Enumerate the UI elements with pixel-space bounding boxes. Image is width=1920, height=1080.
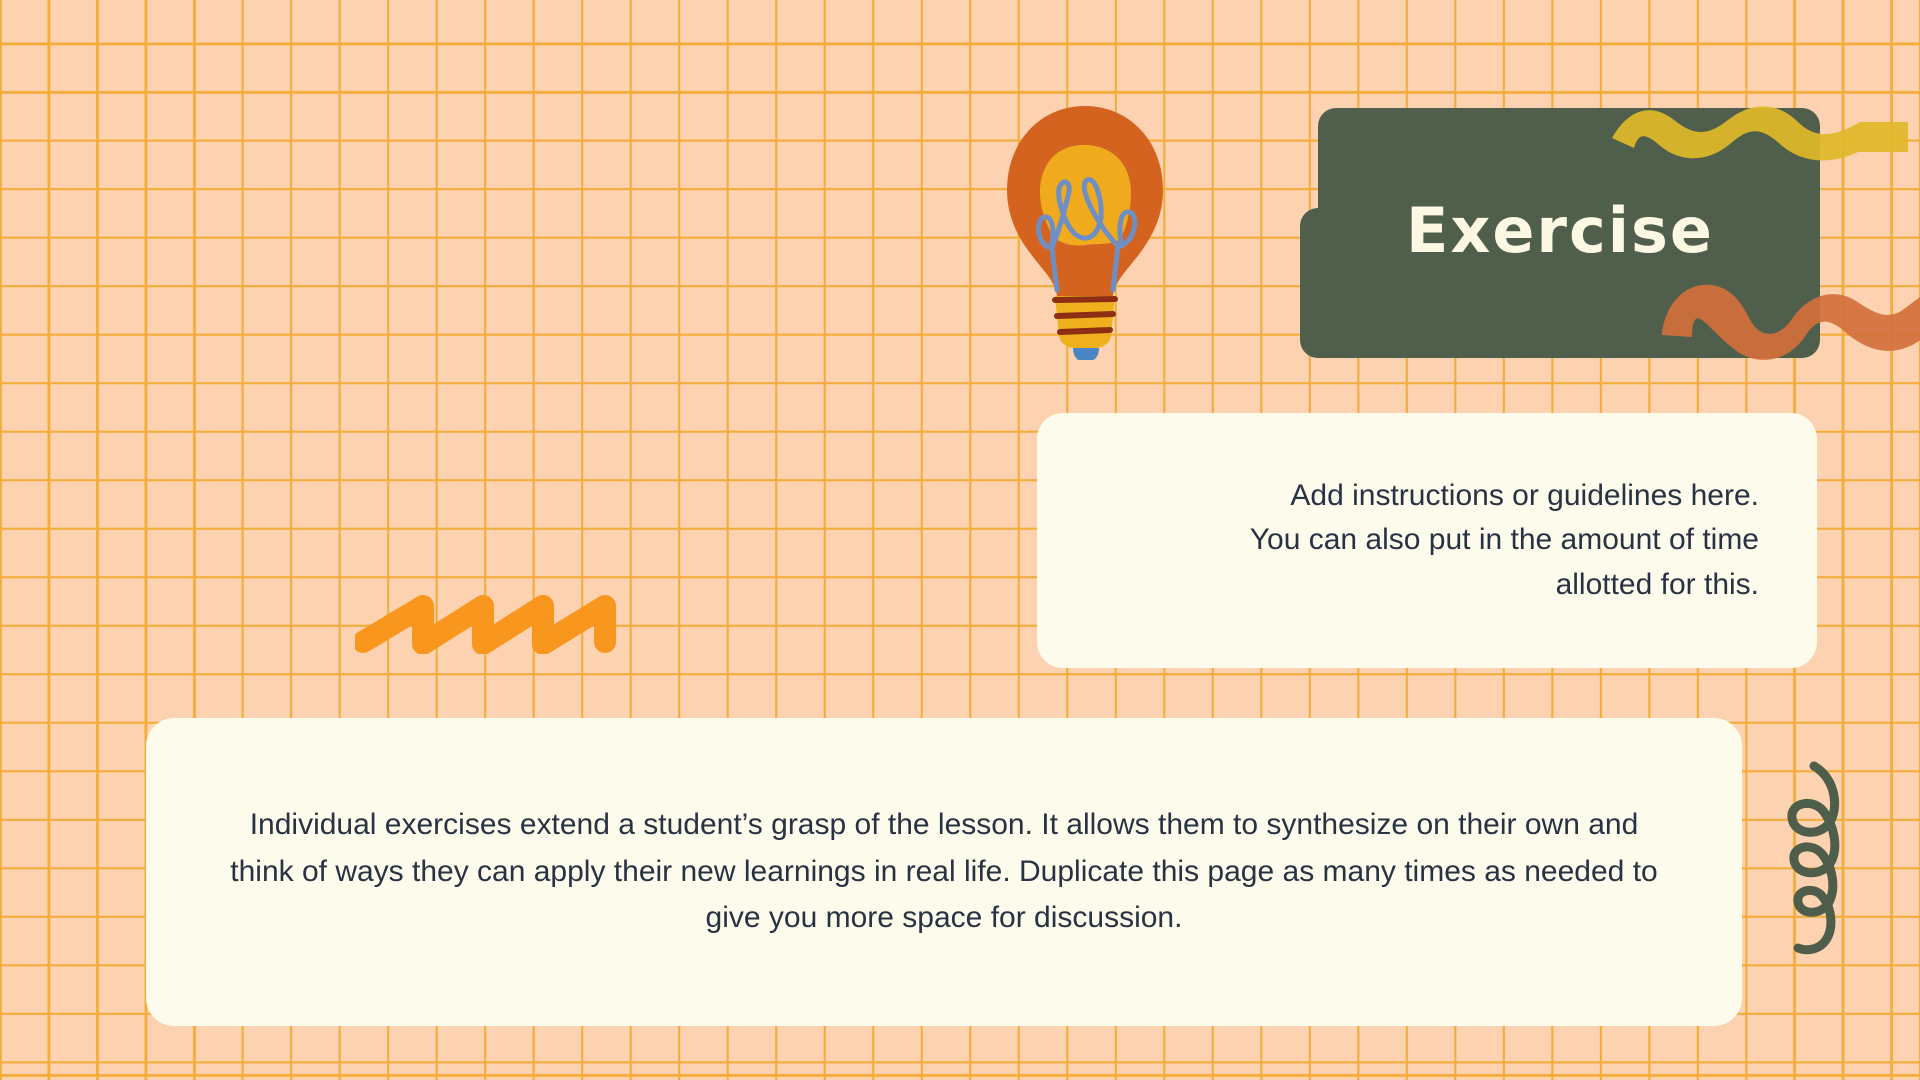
green-coil-path xyxy=(1792,766,1835,950)
lightbulb-icon xyxy=(1000,100,1170,360)
description-card[interactable]: Individual exercises extend a student’s … xyxy=(146,718,1742,1026)
chalkboard-panel: Exercise xyxy=(1300,108,1820,358)
instructions-card[interactable]: Add instructions or guidelines here. You… xyxy=(1037,413,1817,668)
bulb-tip xyxy=(1073,348,1099,360)
slide-canvas: Exercise Add instructions or guidelines … xyxy=(0,0,1920,1080)
description-text: Individual exercises extend a student’s … xyxy=(218,802,1670,942)
bulb-base xyxy=(1055,296,1115,348)
page-title: Exercise xyxy=(1300,200,1820,262)
orange-zigzag-path xyxy=(363,606,605,644)
green-coil-squiggle xyxy=(1780,760,1860,960)
instructions-text: Add instructions or guidelines here. You… xyxy=(1250,474,1759,606)
orange-zigzag xyxy=(355,594,635,654)
